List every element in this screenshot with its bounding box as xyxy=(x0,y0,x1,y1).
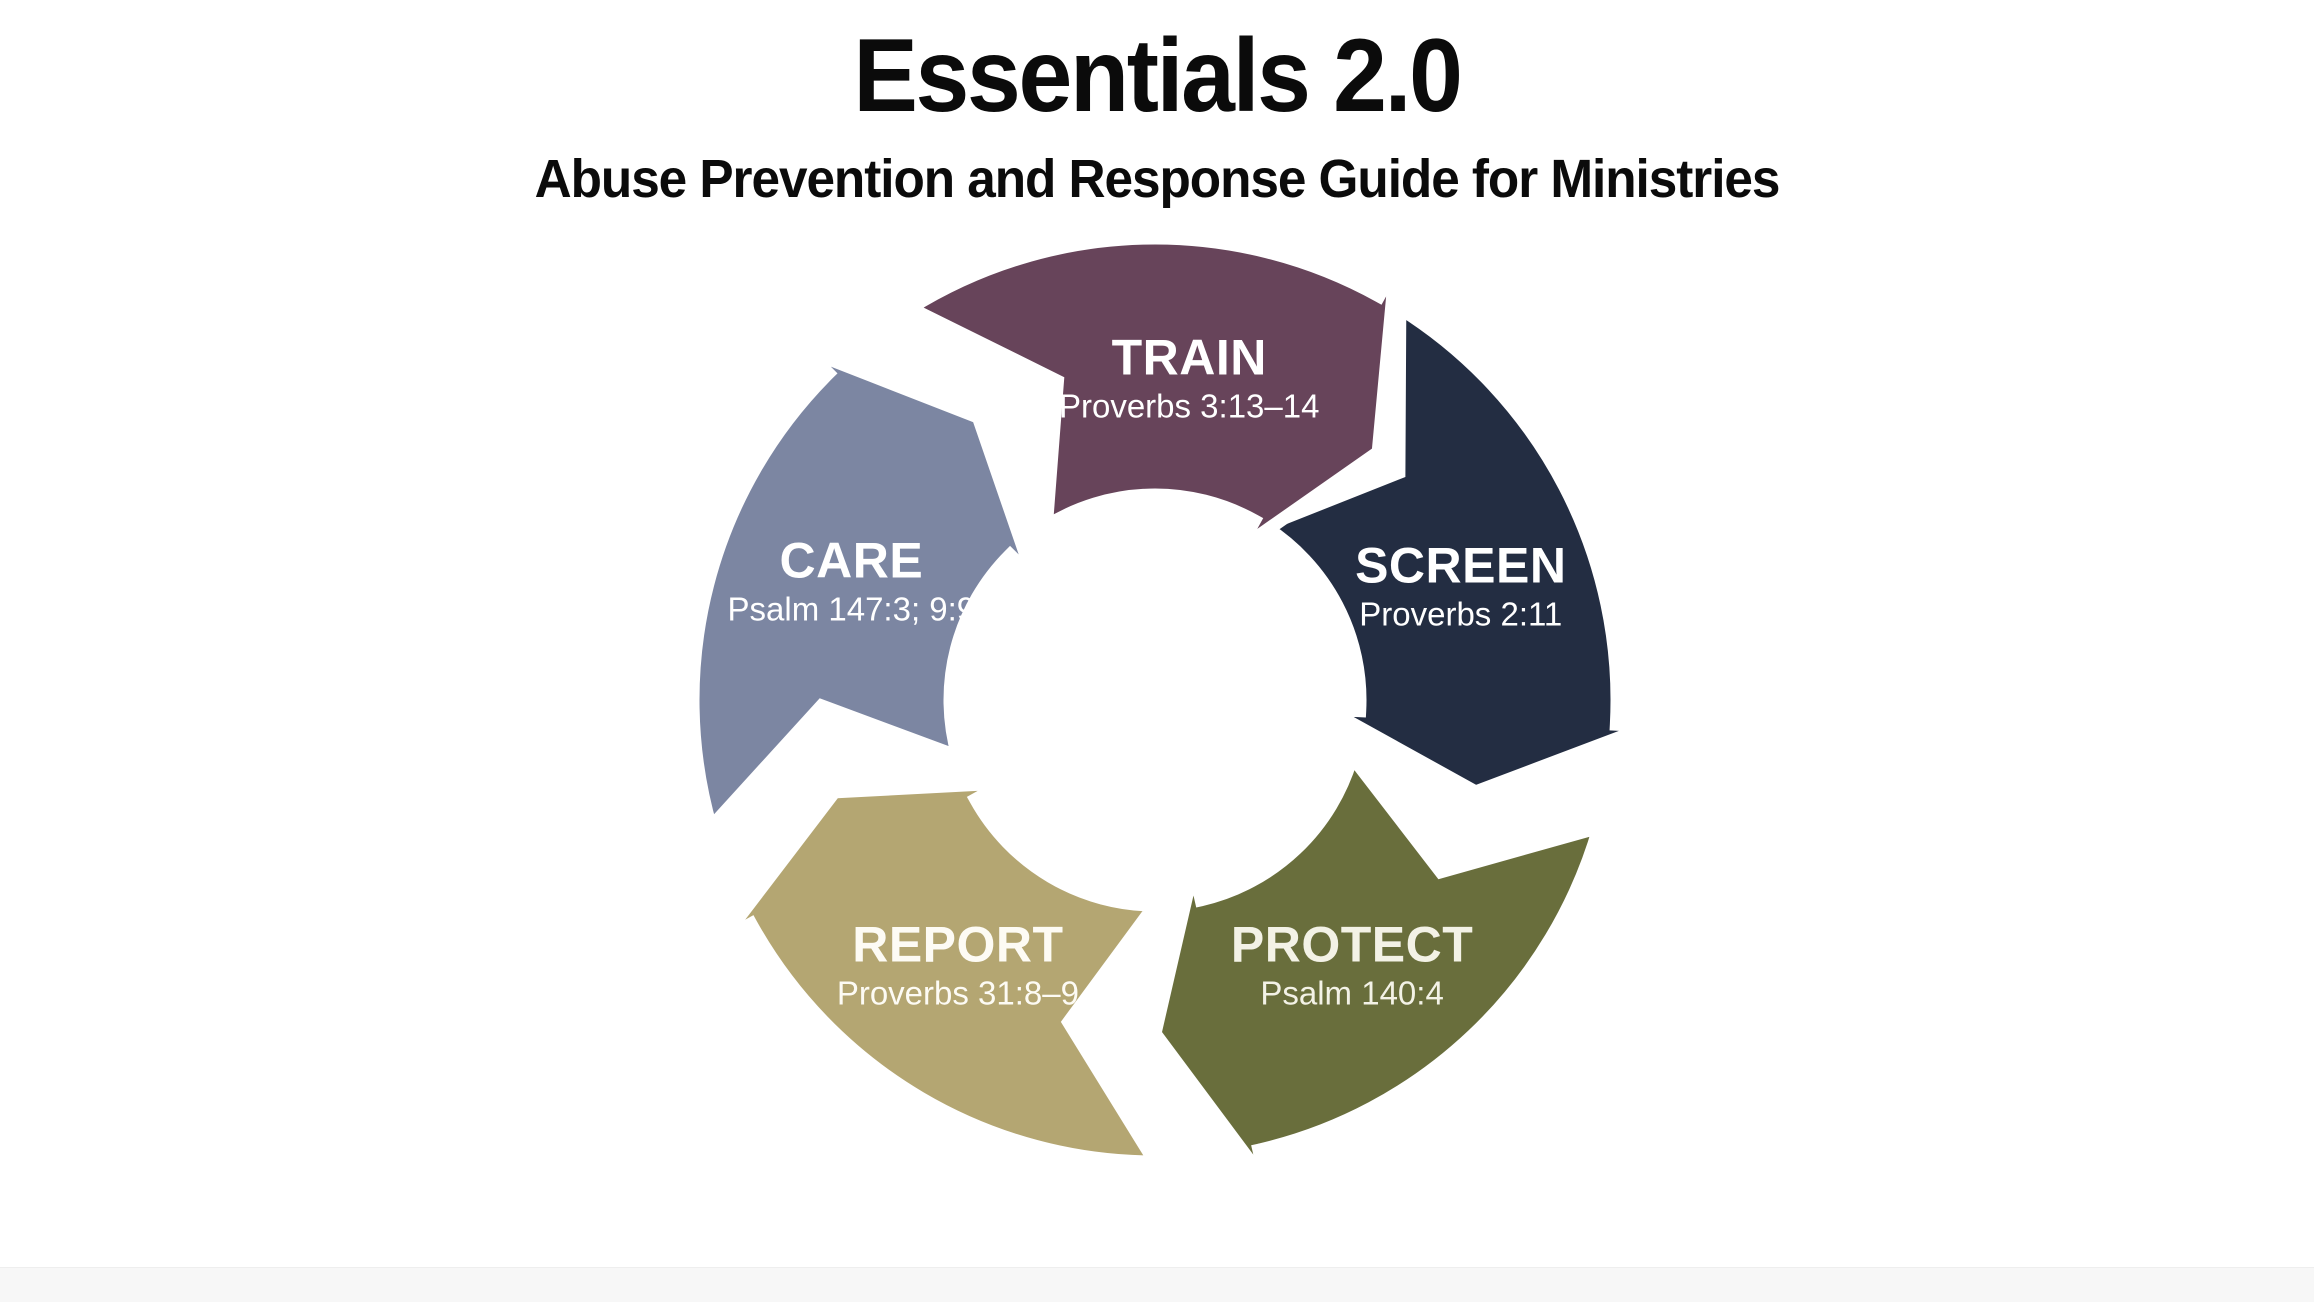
cycle-segment-care-reference: Psalm 147:3; 9:9 xyxy=(728,590,976,627)
cycle-segment-train-reference: Proverbs 3:13–14 xyxy=(1059,387,1320,424)
cycle-segment-protect-label: PROTECT xyxy=(1231,917,1473,973)
cycle-segment-protect-reference: Psalm 140:4 xyxy=(1260,975,1443,1012)
cycle-segment-report-label: REPORT xyxy=(852,917,1063,973)
cycle-segment-report-reference: Proverbs 31:8–9 xyxy=(837,975,1079,1012)
page-root: Essentials 2.0 Abuse Prevention and Resp… xyxy=(0,0,2314,1302)
cycle-segment-screen-reference: Proverbs 2:11 xyxy=(1359,596,1562,633)
cycle-diagram-svg: SCREEN Proverbs 2:11 PROTECT Psalm 140:4… xyxy=(0,0,2314,1302)
cycle-segment-protect[interactable]: PROTECT Psalm 140:4 xyxy=(1155,757,1599,1184)
cycle-segment-screen-label: SCREEN xyxy=(1355,538,1566,594)
cycle-segment-care-label: CARE xyxy=(780,532,924,588)
cycle-segment-care[interactable]: CARE Psalm 147:3; 9:9 xyxy=(693,349,1034,827)
cycle-segment-report[interactable]: REPORT Proverbs 31:8–9 xyxy=(721,783,1155,1162)
bottom-band xyxy=(0,1267,2314,1302)
cycle-diagram: SCREEN Proverbs 2:11 PROTECT Psalm 140:4… xyxy=(0,0,2314,1302)
cycle-segment-train-label: TRAIN xyxy=(1112,329,1267,385)
